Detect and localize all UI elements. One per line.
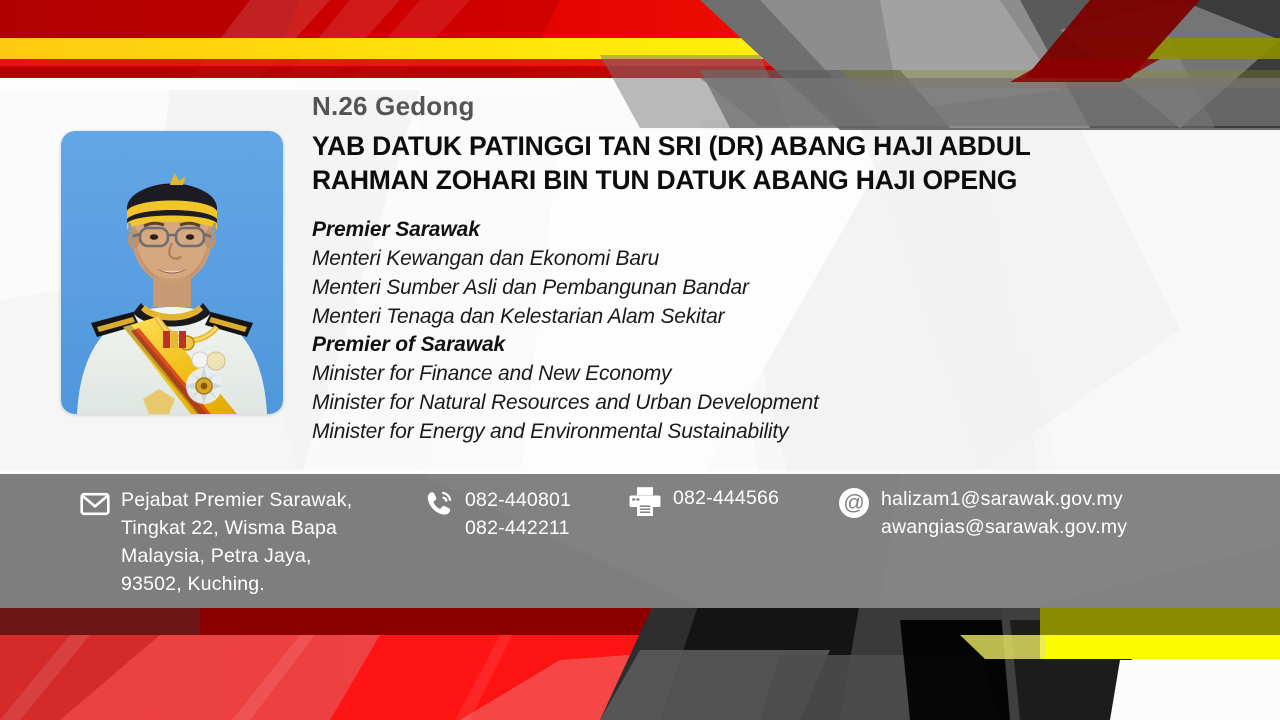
contact-address[interactable]: Pejabat Premier Sarawak, Tingkat 22, Wis… [80,486,400,598]
representative-details: N.26 Gedong YAB DATUK PATINGGI TAN SRI (… [312,92,1192,447]
role-malay-3: Menteri Tenaga dan Kelestarian Alam Seki… [312,303,1192,332]
slide-canvas: N.26 Gedong YAB DATUK PATINGGI TAN SRI (… [0,0,1280,720]
phone-ring-icon [424,489,454,519]
role-heading-malay: Premier Sarawak [312,216,1192,245]
portrait-photo [61,131,283,414]
role-english-1: Minister for Finance and New Economy [312,360,1192,389]
phone-numbers-text: 082-440801 082-442211 [465,486,571,542]
address-text: Pejabat Premier Sarawak, Tingkat 22, Wis… [121,486,352,598]
svg-text:@: @ [843,492,864,515]
roles-list: Premier Sarawak Menteri Kewangan dan Eko… [312,216,1192,446]
contact-fax[interactable]: 082-444566 [628,484,828,517]
printer-fax-icon [628,486,662,517]
role-malay-2: Menteri Sumber Asli dan Pembangunan Band… [312,274,1192,303]
seat-label: N.26 Gedong [312,92,1192,121]
fax-number-text: 082-444566 [673,484,779,512]
portrait-illustration [61,131,283,414]
contact-phone[interactable]: 082-440801 082-442211 [424,486,614,542]
at-sign-icon: @ [838,487,870,519]
email-addresses-text: halizam1@sarawak.gov.my awangias@sarawak… [881,485,1127,541]
role-malay-1: Menteri Kewangan dan Ekonomi Baru [312,245,1192,274]
page-title: YAB DATUK PATINGGI TAN SRI (DR) ABANG HA… [312,130,1192,198]
envelope-icon [80,489,110,519]
contact-email[interactable]: @ halizam1@sarawak.gov.my awangias@saraw… [838,485,1168,541]
role-english-2: Minister for Natural Resources and Urban… [312,389,1192,418]
role-heading-english: Premier of Sarawak [312,331,1192,360]
role-english-3: Minister for Energy and Environmental Su… [312,418,1192,447]
